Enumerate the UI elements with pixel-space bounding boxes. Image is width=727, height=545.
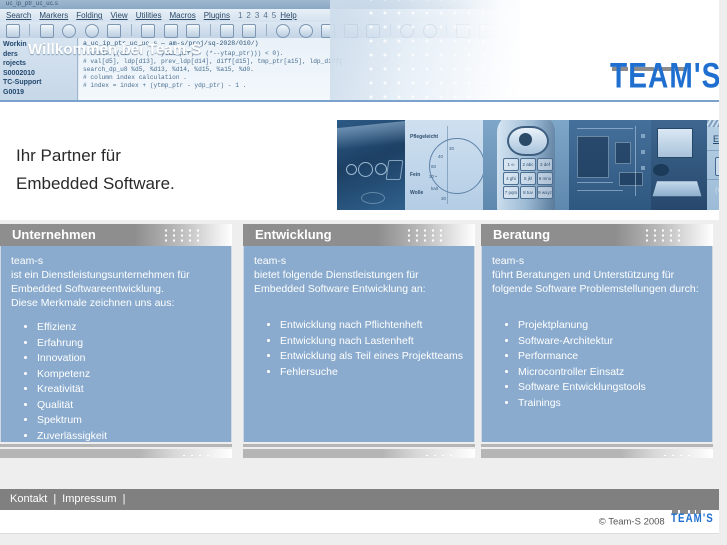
toolbar-divider [266,24,267,36]
list-item[interactable]: Microcontroller Einsatz [518,365,702,379]
dial-tick-30: 30 [449,146,454,151]
editor-menubar: SearchMarkersFoldingViewUtilitiesMacrosP… [0,9,500,22]
intro-line-1: ist ein Dienstleistungsunternehmen für [11,268,221,282]
code-line-2: search_dp_u8 %d5, %d13, %d14, %d15, %a15… [83,66,496,74]
footer-separator-2: | [123,493,126,505]
menu-num-5: 5 [272,11,276,20]
hero-tagline: Ihr Partner für Embedded Software. [16,142,175,198]
phone-screen-highlight [519,133,532,146]
toolbar-divider [390,24,391,36]
paste-icon [366,24,380,38]
list-item[interactable]: Entwicklung nach Pflichtenheft [280,318,464,332]
sidebar-line-3: S0002010 [3,69,74,79]
hero-collage-image: Pflegeleicht Fein Wolle 30 40 60 30 • ka… [337,120,719,210]
redo-icon [299,24,313,38]
column-header-unternehmen: Unternehmen [0,224,232,246]
column-intro: team-s ist ein Dienstleistungsunternehme… [11,254,221,310]
list-item[interactable]: Entwicklung nach Lastenheft [280,334,464,348]
intro-line-3: Diese Merkmale zeichnen uns aus: [11,296,221,310]
phone-key-2: 2 abc [520,158,536,171]
phone-key-3: 3 def [537,158,553,171]
phone-key-6: 6 mno [537,172,553,185]
list-item[interactable]: Projektplanung [518,318,702,332]
zoom-in-icon [62,24,76,38]
pcb-chip-1 [577,136,609,178]
intro-line-2: folgende Software Problemstellungen durc… [492,282,702,296]
scissors-icon [715,157,719,176]
sidebar-line-2: rojects [3,59,74,69]
menu-num-3: 3 [255,11,259,20]
hero-line-1: Ihr Partner für [16,142,175,170]
ide-menu-erstellen-label: Erstellen [713,134,719,144]
edit-pencil-icon [186,24,200,38]
list-item[interactable]: Entwicklung als Teil eines Projektteams [280,349,464,363]
pcb-trace-2 [577,182,613,183]
bookmark-icon [479,24,493,38]
dropdown-icon [6,24,20,38]
phone-key-4: 4 ghi [503,172,519,185]
header-dots-icon [162,228,204,243]
car-gauge-medium [375,163,387,175]
intro-line-0: team-s [11,254,221,268]
car-gauge-large [358,162,373,177]
hero-panel-circuit-board [569,120,651,210]
logo-text: TEAM'S [610,55,719,97]
search-icon [400,24,414,38]
toolbar-divider [210,24,211,36]
footer-separator-1: | [53,493,56,505]
menu-num-4: 4 [263,11,267,20]
dial-tick-40: 40 [438,154,443,159]
column-rule [481,444,713,447]
car-wheel-shape [361,192,385,204]
phone-keypad: 1 ∞ 2 abc 3 def 4 ghi 5 jkl 6 mno 7 pqrs… [503,158,551,210]
pcb-chip-3 [619,172,643,186]
menu-item-utilities: Utilities [136,11,162,20]
footer-navigation: Kontakt|Impressum| [0,489,719,510]
footer-dots-icon [180,452,214,456]
column-footer-bar [0,449,232,458]
column-footer-bar [481,449,713,458]
car-gauge-small [346,164,357,175]
footer-copyright: © Team-S 2008 TEAM'S [0,510,719,534]
pcb-pad-1 [641,134,645,138]
code-line-4: # column index calculation . [83,74,496,82]
zoom-out-icon [85,24,99,38]
dial-row-fein: Fein [410,172,420,178]
dial-tick-60: 60 [431,164,436,169]
ide-menu-erstellen: Erstellen [713,134,719,144]
column-title: Entwicklung [255,227,332,242]
monitor-shape [657,128,693,158]
menu-item-search: Search [6,11,31,20]
dial-tick-kalt: kalt [431,186,438,191]
cut-icon [321,24,335,38]
content-columns: Unternehmen team-s ist ein Dienstleistun… [0,224,719,464]
hero-panel-mobile-phone: 1 ∞ 2 abc 3 def 4 ghi 5 jkl 6 mno 7 pqrs… [483,120,569,210]
ide-global-label: (Global) [715,186,719,195]
editor-toolbar [0,22,500,38]
column-unternehmen: Unternehmen team-s ist ein Dienstleistun… [0,224,232,458]
header-logo: TEAM'S [610,66,713,97]
column-body-beratung: team-s führt Beratungen und Unterstützun… [481,246,713,442]
new-window-icon [107,24,121,38]
pcb-pad-3 [641,166,645,170]
column-footer-bar [243,449,475,458]
list-item[interactable]: Qualität [37,398,221,412]
phone-key-7: 7 pqrs [503,186,519,199]
dial-row-wolle: Wolle [410,190,423,196]
toolbar-divider [446,24,447,36]
pcb-trace-3 [577,190,623,191]
pcb-trace-4 [635,126,636,196]
list-item[interactable]: Spektrum [37,413,221,427]
column-rule [243,444,475,447]
editor-titlebar: uc_ip_ptr_uc_uc.s [0,0,500,9]
phone-key-9: 9 wxyz [537,186,553,199]
sidebar-line-5: G0019 [3,88,74,98]
footer-teams-logo: TEAM'S [671,510,711,534]
print-preview-icon [242,24,256,38]
menu-item-folding: Folding [76,11,102,20]
menu-num-2: 2 [246,11,250,20]
page-root: uc_ip_ptr_uc_uc.s SearchMarkersFoldingVi… [0,0,727,545]
column-header-beratung: Beratung [481,224,713,246]
intro-line-1: bietet folgende Dienstleistungen für [254,268,464,282]
toolbar-divider [131,24,132,36]
search-replace-icon [423,24,437,38]
undo-icon [276,24,290,38]
footer-dots-icon [423,452,457,456]
phone-key-1: 1 ∞ [503,158,519,171]
list-item[interactable]: Kompetenz [37,367,221,381]
hero-panel-appliance-dial: Pflegeleicht Fein Wolle 30 40 60 30 • ka… [405,120,483,210]
menu-item-markers: Markers [39,11,68,20]
hero-panel-workstation [651,120,707,210]
list-item[interactable]: Kreativität [37,382,221,396]
pcb-chip-2 [615,142,631,164]
mouse-shape [653,164,669,176]
hero-line-2: Embedded Software. [16,170,175,198]
column-title: Unternehmen [12,227,96,242]
column-list: Effizienz Erfahrung Innovation Kompetenz… [11,320,221,443]
intro-line-0: team-s [492,254,702,268]
save-icon [40,24,54,38]
list-item[interactable]: Zuverlässigkeit [37,429,221,443]
column-body-unternehmen: team-s ist ein Dienstleistungsunternehme… [0,246,232,442]
pcb-pad-2 [641,150,645,154]
column-beratung: Beratung team-s führt Beratungen und Unt… [481,224,713,458]
car-display-shape [386,160,404,180]
intro-line-2: Embedded Software Entwicklung an: [254,282,464,296]
hero-panel-ide-toolbar: Erstellen (Global) [707,120,719,210]
copy-icon [344,24,358,38]
menu-item-help: Help [280,11,296,20]
ide-toolbar-row [707,150,719,180]
open-folder-icon [164,24,178,38]
code-line-1: # val[d5], ldp[d13], prev_ldp[d14], diff… [83,58,496,66]
hero-panel-automotive [337,120,405,210]
comment-icon [456,24,470,38]
list-item[interactable]: Performance [518,349,702,363]
column-body-entwicklung: team-s bietet folgende Dienstleistungen … [243,246,475,442]
list-item[interactable]: Software Entwicklungstools [518,380,702,394]
code-line-5: # index = index + (ytmp_ptr - ydp_ptr) -… [83,82,496,90]
menu-item-plugins: Plugins [204,11,230,20]
sidebar-line-4: TC-Support [3,78,74,88]
menu-item-view: View [111,11,128,20]
intro-line-0: team-s [254,254,464,268]
list-item[interactable]: Erfahrung [37,336,221,350]
ide-hatch-stripe [707,120,719,127]
teams-logo: TEAM'S [610,66,713,97]
list-item[interactable]: Trainings [518,396,702,410]
keyboard-shape [653,181,702,196]
logo-text: TEAM'S [671,502,714,534]
dial-title: Pflegeleicht [410,134,438,140]
column-intro: team-s führt Beratungen und Unterstützun… [492,254,702,296]
list-item[interactable]: Fehlersuche [280,365,464,379]
column-intro: team-s bietet folgende Dienstleistungen … [254,254,464,296]
column-header-entwicklung: Entwicklung [243,224,475,246]
dial-tick-30-dot: 30 • [429,174,437,179]
menu-item-macros: Macros [169,11,195,20]
car-hood-shape [337,120,405,151]
dial-tick-30b: 30 [441,196,446,201]
column-entwicklung: Entwicklung team-s bietet folgende Diens… [243,224,475,458]
header-dots-icon [405,228,447,243]
menu-num-1: 1 [238,11,242,20]
list-item[interactable]: Software-Architektur [518,334,702,348]
site-header: uc_ip_ptr_uc_uc.s SearchMarkersFoldingVi… [0,0,719,102]
header-dots-icon [643,228,685,243]
list-item[interactable]: Innovation [37,351,221,365]
phone-key-8: 8 tuv [520,186,536,199]
hero-section: Ihr Partner für Embedded Software. Pfleg… [0,102,719,220]
column-rule [0,444,232,447]
welcome-heading: Willkommen bei Team-S [28,41,201,58]
phone-key-5: 5 jkl [520,172,536,185]
toolbar-divider [29,24,30,36]
pcb-trace-1 [577,128,633,129]
footer-link-impressum[interactable]: Impressum [62,493,116,505]
column-title: Beratung [493,227,550,242]
list-item[interactable]: Effizienz [37,320,221,334]
print-icon [220,24,234,38]
copyright-text: © Team-S 2008 [599,517,665,528]
intro-line-1: führt Beratungen und Unterstützung für [492,268,702,282]
column-list: Projektplanung Software-Architektur Perf… [492,318,702,410]
footer-dots-icon [661,452,695,456]
intro-line-2: Embedded Softwareentwicklung. [11,282,221,296]
new-file-icon [141,24,155,38]
footer-link-kontakt[interactable]: Kontakt [10,493,47,505]
column-list: Entwicklung nach Pflichtenheft Entwicklu… [254,318,464,379]
